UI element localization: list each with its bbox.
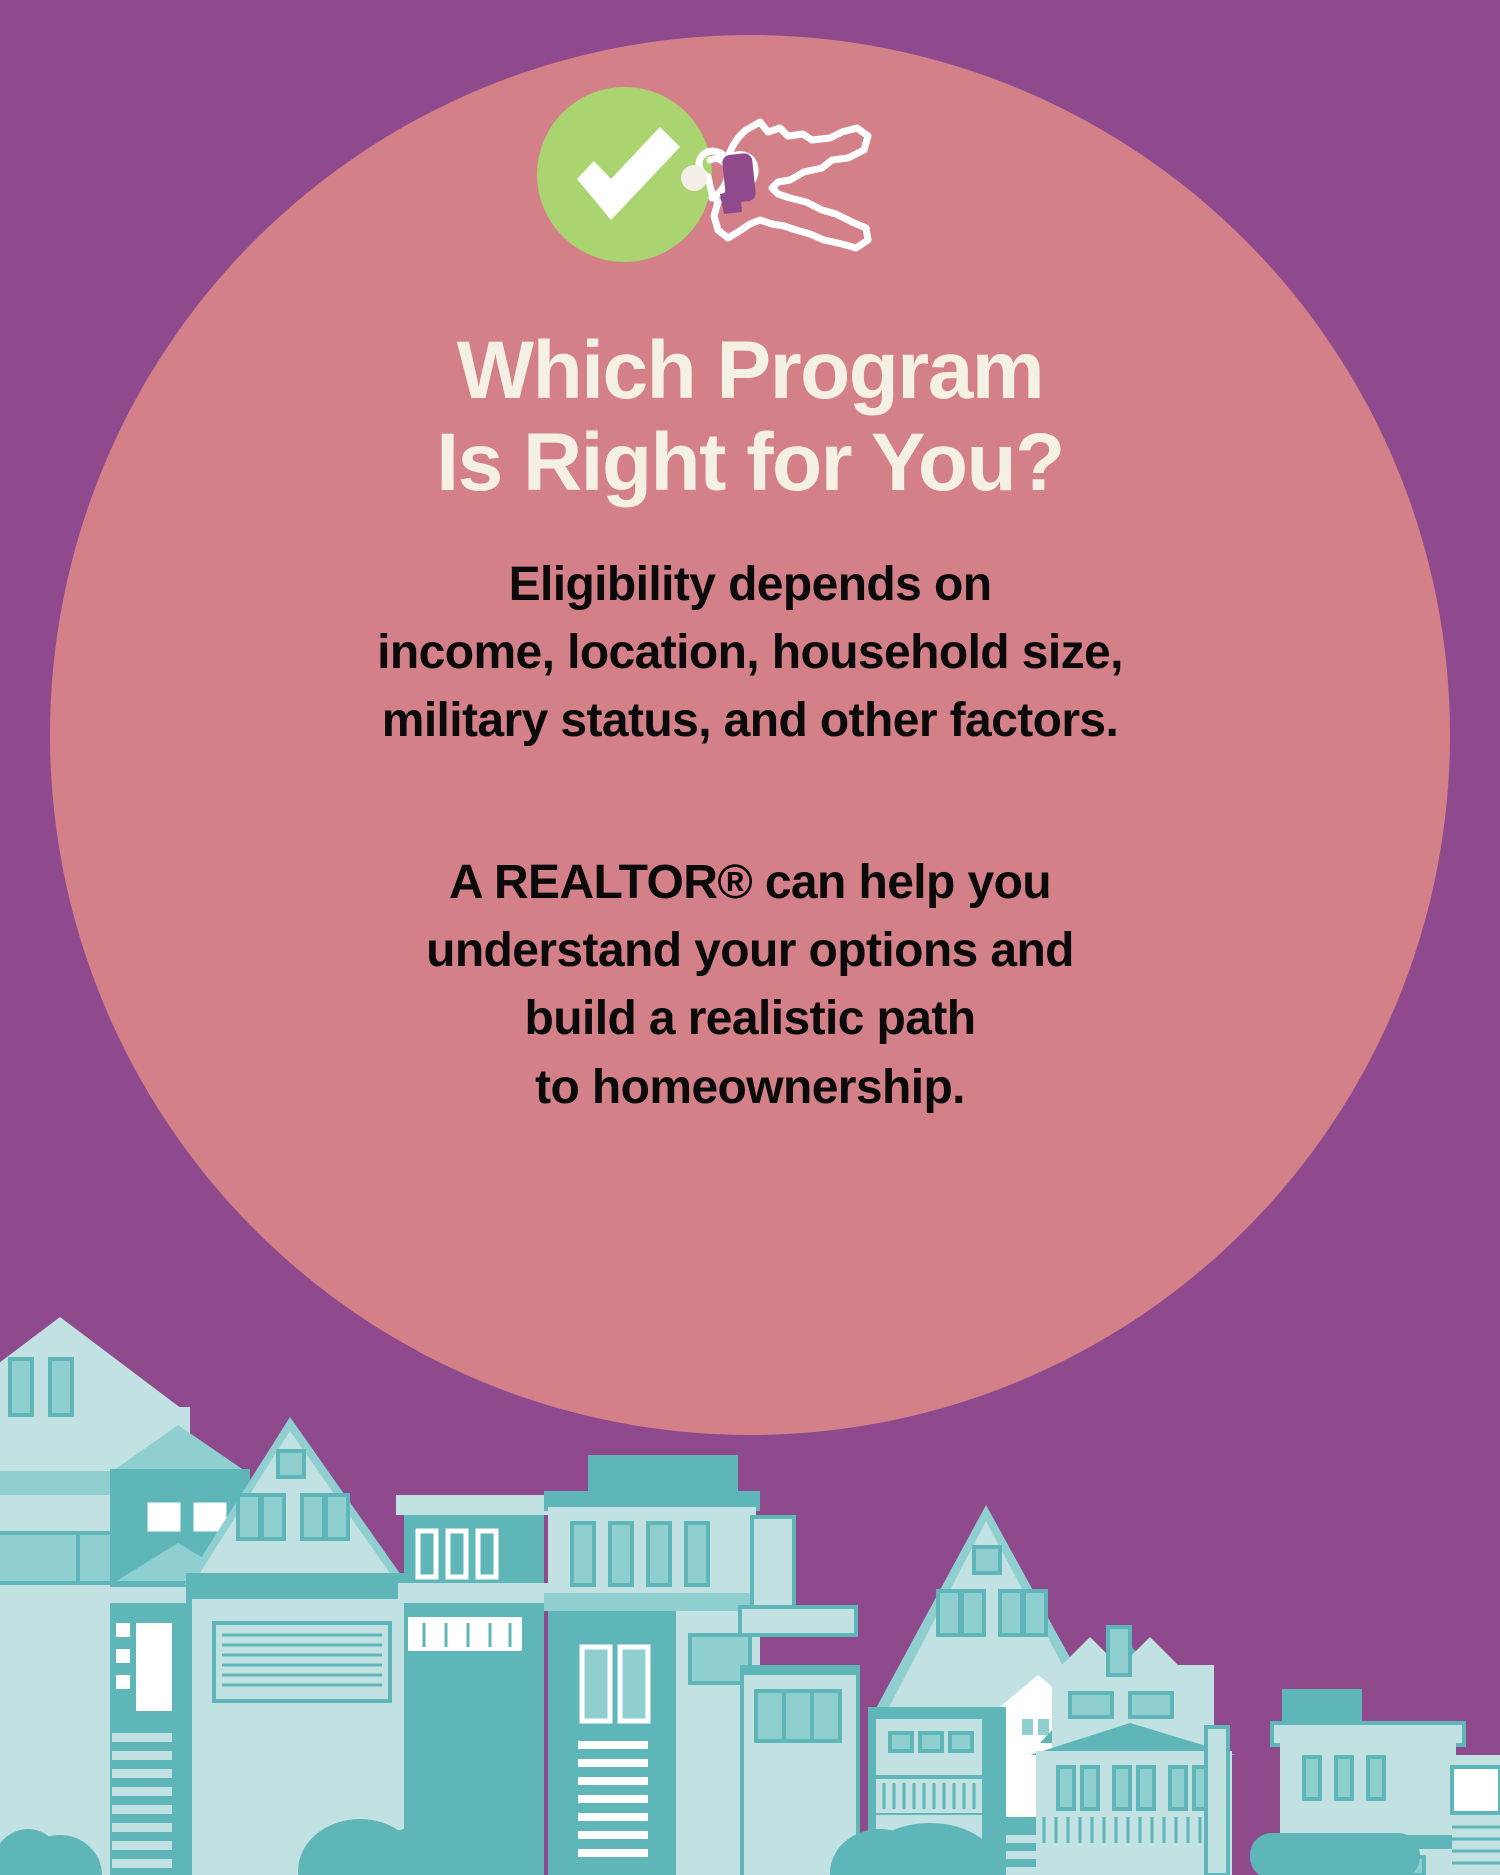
- poster-canvas: Which Program Is Right for You? Eligibil…: [0, 0, 1500, 1875]
- house-10: [1452, 1755, 1500, 1875]
- p2-line-3: build a realistic path: [0, 985, 1500, 1053]
- paragraph-realtor: A REALTOR® can help you understand your …: [0, 807, 1500, 1122]
- title-line-1: Which Program: [0, 325, 1500, 417]
- house-4: [396, 1495, 552, 1875]
- house-skyline-illustration: [0, 1255, 1500, 1875]
- p2-line-4: to homeownership.: [0, 1054, 1500, 1122]
- p2-line-2: understand your options and: [0, 917, 1500, 985]
- paragraph-spacer: [0, 755, 1500, 807]
- title-line-2: Is Right for You?: [0, 417, 1500, 509]
- page-title: Which Program Is Right for You?: [0, 0, 1500, 509]
- house-6: [740, 1517, 860, 1875]
- p1-line-2: income, location, household size,: [0, 619, 1500, 687]
- poster-content: Which Program Is Right for You? Eligibil…: [0, 0, 1500, 1122]
- house-5: [544, 1455, 760, 1875]
- paragraph-eligibility: Eligibility depends on income, location,…: [0, 509, 1500, 755]
- p2-line-1: A REALTOR® can help you: [0, 849, 1500, 917]
- p1-line-3: military status, and other factors.: [0, 687, 1500, 755]
- p1-line-1: Eligibility depends on: [0, 551, 1500, 619]
